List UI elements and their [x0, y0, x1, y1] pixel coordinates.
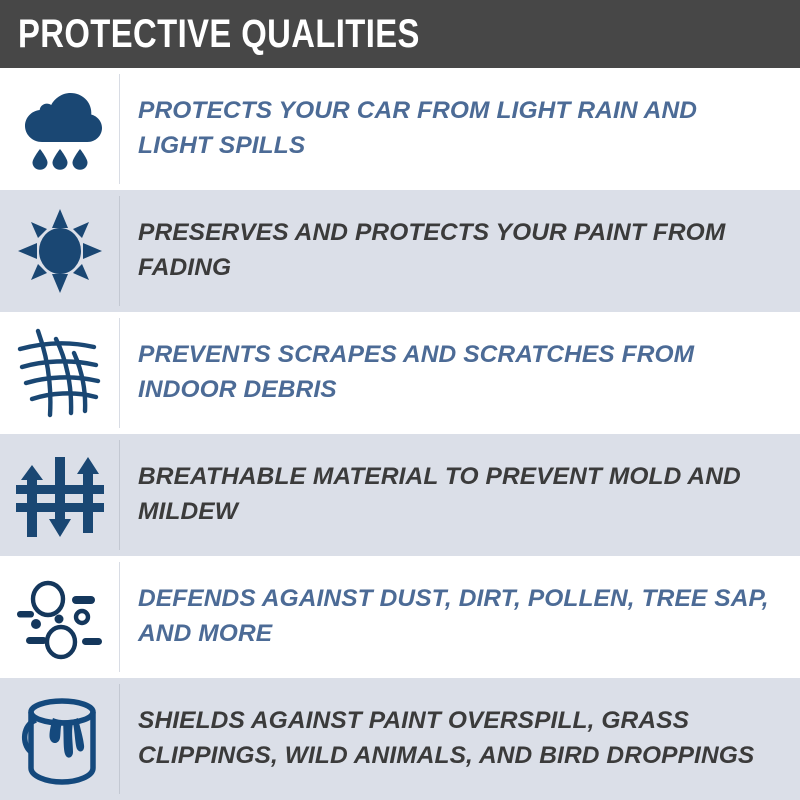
- scratch-mesh-icon: [12, 325, 108, 421]
- icon-cell-scratches: [0, 312, 120, 434]
- icon-cell-rain: [0, 68, 120, 190]
- text-cell-scratches: PREVENTS SCRAPES AND SCRATCHES FROM INDO…: [120, 312, 800, 434]
- feature-row-rain: PROTECTS YOUR CAR FROM LIGHT RAIN AND LI…: [0, 68, 800, 190]
- protective-qualities-infographic: PROTECTIVE QUALITIES PROTEC: [0, 0, 800, 800]
- feature-text: BREATHABLE MATERIAL TO PREVENT MOLD AND …: [138, 460, 774, 530]
- feature-text: PRESERVES AND PROTECTS YOUR PAINT FROM F…: [138, 216, 774, 286]
- feature-row-paint: SHIELDS AGAINST PAINT OVERSPILL, GRASS C…: [0, 678, 800, 800]
- icon-cell-paint: [0, 678, 120, 800]
- feature-text: PREVENTS SCRAPES AND SCRATCHES FROM INDO…: [138, 338, 774, 408]
- page-title: PROTECTIVE QUALITIES: [18, 14, 420, 54]
- icon-cell-dust: [0, 556, 120, 678]
- breathable-airflow-icon: [12, 447, 108, 543]
- icon-cell-sun: [0, 190, 120, 312]
- feature-row-dust: DEFENDS AGAINST DUST, DIRT, POLLEN, TREE…: [0, 556, 800, 678]
- text-cell-sun: PRESERVES AND PROTECTS YOUR PAINT FROM F…: [120, 190, 800, 312]
- icon-cell-breathable: [0, 434, 120, 556]
- feature-row-scratches: PREVENTS SCRAPES AND SCRATCHES FROM INDO…: [0, 312, 800, 434]
- text-cell-dust: DEFENDS AGAINST DUST, DIRT, POLLEN, TREE…: [120, 556, 800, 678]
- rain-cloud-icon: [12, 81, 108, 177]
- feature-row-sun: PRESERVES AND PROTECTS YOUR PAINT FROM F…: [0, 190, 800, 312]
- feature-list: PROTECTS YOUR CAR FROM LIGHT RAIN AND LI…: [0, 68, 800, 800]
- feature-text: DEFENDS AGAINST DUST, DIRT, POLLEN, TREE…: [138, 582, 774, 652]
- feature-text: PROTECTS YOUR CAR FROM LIGHT RAIN AND LI…: [138, 94, 774, 164]
- feature-row-breathable: BREATHABLE MATERIAL TO PREVENT MOLD AND …: [0, 434, 800, 556]
- text-cell-paint: SHIELDS AGAINST PAINT OVERSPILL, GRASS C…: [120, 678, 800, 800]
- dust-particles-icon: [12, 569, 108, 665]
- header-bar: PROTECTIVE QUALITIES: [0, 0, 800, 68]
- paint-can-icon: [12, 691, 108, 787]
- sun-icon: [12, 203, 108, 299]
- text-cell-rain: PROTECTS YOUR CAR FROM LIGHT RAIN AND LI…: [120, 68, 800, 190]
- feature-text: SHIELDS AGAINST PAINT OVERSPILL, GRASS C…: [138, 704, 774, 774]
- text-cell-breathable: BREATHABLE MATERIAL TO PREVENT MOLD AND …: [120, 434, 800, 556]
